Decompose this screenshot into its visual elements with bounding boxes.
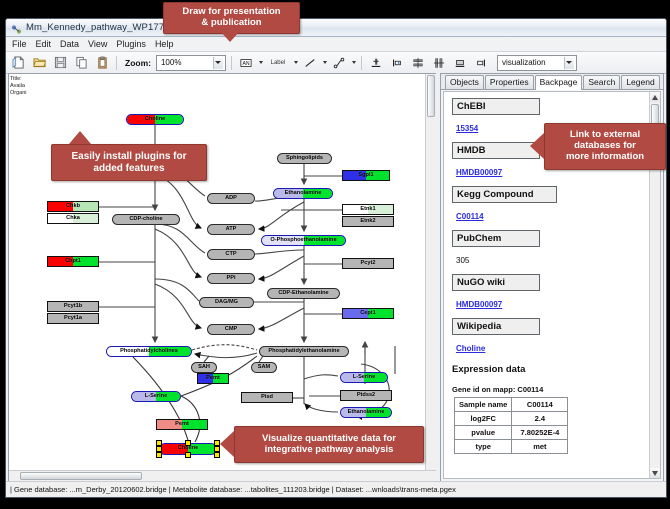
gene-node-chpt1[interactable]: Chpt1 <box>47 256 99 267</box>
menu-item-plugins[interactable]: Plugins <box>116 39 146 49</box>
pathway-meta-organism: Organi <box>10 90 27 97</box>
side-panel-tabs: Objects Properties Backpage Search Legen… <box>441 74 663 90</box>
chevron-down-icon <box>213 57 223 69</box>
open-folder-icon[interactable] <box>30 54 48 72</box>
node-label: SAM <box>258 365 270 371</box>
callout-plugins-arrow-icon <box>69 131 91 144</box>
callout-plugins: Easily install plugins for added feature… <box>51 144 207 181</box>
node-label: CMP <box>225 327 237 333</box>
gene-node-etnk1[interactable]: Etnk1 <box>342 204 394 215</box>
align-bottom-icon[interactable] <box>451 54 469 72</box>
node-label: Phosphatidylethanolamine <box>268 349 339 355</box>
callout-visualize-arrow-icon <box>220 431 234 457</box>
pathway-meta-title: Title: <box>10 76 27 83</box>
zoom-label: Zoom: <box>125 58 151 68</box>
callout-plugins-line2: added features <box>93 163 164 175</box>
menu-item-help[interactable]: Help <box>155 39 174 49</box>
link-nugo[interactable]: HMDB00097 <box>456 300 502 309</box>
value-pubchem: 305 <box>456 256 469 265</box>
visualization-value: visualization <box>502 58 546 67</box>
cell-label: type <box>455 440 512 454</box>
metabolite-node-cdp-choline[interactable]: CDP-choline <box>112 214 180 225</box>
scroll-up-icon[interactable] <box>650 92 660 102</box>
gene-node-etnk2[interactable]: Etnk2 <box>342 216 394 227</box>
metabolite-node-o-phosphoethanolamine[interactable]: O-Phosphoethanolamine <box>261 235 346 246</box>
canvas-hscroll-thumb[interactable] <box>20 472 142 480</box>
node-label: Chka <box>66 216 80 222</box>
cell-value: C00114 <box>512 398 568 412</box>
align-left-icon[interactable] <box>388 54 406 72</box>
metabolite-node-cdp-ethanolamine[interactable]: CDP-Ethanolamine <box>267 288 340 299</box>
gene-node-pemt[interactable]: Pemt <box>197 373 229 384</box>
callout-links-arrow-icon <box>530 133 544 159</box>
link-kegg[interactable]: C00114 <box>456 212 484 221</box>
table-row: type met <box>455 440 568 454</box>
line-icon[interactable] <box>301 54 319 72</box>
copy-icon[interactable] <box>72 54 90 72</box>
gene-node-sgpl1[interactable]: Sgpl1 <box>342 170 390 181</box>
node-label: Sgpl1 <box>358 173 373 179</box>
callout-links: Link to external databases for more info… <box>544 123 666 170</box>
table-row: log2FC 2.4 <box>455 412 568 426</box>
title-bar: Mm_Kennedy_pathway_WP1771_45176.gpml <box>6 19 666 37</box>
gene-node-ptdss2[interactable]: Ptdss2 <box>340 390 392 401</box>
node-label: DAG/MG <box>215 300 238 306</box>
table-row: Sample name C00114 <box>455 398 568 412</box>
cell-label: log2FC <box>455 412 512 426</box>
canvas-vertical-scrollbar[interactable] <box>425 74 436 481</box>
metabolite-node-phosphatidylcholines[interactable]: Phosphatidylcholines <box>106 346 192 357</box>
screenshot-root: Mm_Kennedy_pathway_WP1771_45176.gpml Fil… <box>0 0 670 509</box>
callout-visualize-line1: Visualize quantitative data for <box>262 434 396 445</box>
toolbar-separator-3 <box>361 56 362 70</box>
metabolite-node-ctp[interactable]: CTP <box>207 249 255 260</box>
align-cols-icon[interactable] <box>430 54 448 72</box>
gene-node-pcyt1a[interactable]: Pcyt1a <box>47 313 99 324</box>
node-label: CDP-choline <box>129 217 162 223</box>
anchor-chevron-icon[interactable] <box>352 61 356 64</box>
node-label: Pemt <box>175 422 189 428</box>
callout-visualize: Visualize quantitative data for integrat… <box>234 426 424 463</box>
app-icon <box>11 22 22 33</box>
label-dropdown[interactable]: Label <box>266 54 290 72</box>
node-label: PPi <box>226 276 235 282</box>
visualization-dropdown[interactable]: visualization <box>497 55 577 71</box>
node-label: CTP <box>225 252 236 258</box>
align-right-icon[interactable] <box>472 54 490 72</box>
node-label: Pisd <box>261 395 273 401</box>
resize-handle[interactable] <box>185 452 191 458</box>
cell-value: 2.4 <box>512 412 568 426</box>
metabolite-node-l-serine[interactable]: L-Serine <box>340 372 388 383</box>
callout-draw-line2: & publication <box>201 18 261 29</box>
cell-value: met <box>512 440 568 454</box>
metabolite-node-dag-mg[interactable]: DAG/MG <box>199 297 254 308</box>
new-file-icon[interactable] <box>9 54 27 72</box>
align-rows-icon[interactable] <box>409 54 427 72</box>
resize-handle[interactable] <box>156 452 162 458</box>
status-bar: | Gene database: ...m_Derby_20120602.bri… <box>6 481 666 497</box>
tab-legend[interactable]: Legend <box>621 75 659 89</box>
expression-table: Sample name C00114 log2FC 2.4 pvalue 7.8… <box>454 397 568 454</box>
gene-node-pcyt1b[interactable]: Pcyt1b <box>47 301 99 312</box>
node-label: Choline <box>178 446 199 452</box>
metabolite-node-choline[interactable]: Choline <box>126 114 184 125</box>
gene-node-chkb[interactable]: Chkb <box>47 201 99 212</box>
table-row: pvalue 7.80252E-4 <box>455 426 568 440</box>
gene-node-pemt[interactable]: Pemt <box>156 419 208 430</box>
line-chevron-icon[interactable] <box>323 61 327 64</box>
node-label: Chkb <box>66 204 80 210</box>
metabolite-node-adp[interactable]: ADP <box>207 193 255 204</box>
node-label: Ethanolamine <box>348 410 385 416</box>
metabolite-node-cmp[interactable]: CMP <box>207 324 255 335</box>
pathway-meta-available: Availa <box>10 83 27 90</box>
datanode-chevron-icon[interactable] <box>259 61 263 64</box>
visualization-chevron-icon <box>564 57 574 69</box>
tab-search[interactable]: Search <box>583 75 620 89</box>
node-label: Etnk1 <box>360 207 375 213</box>
pathvisio-window: Mm_Kennedy_pathway_WP1771_45176.gpml Fil… <box>5 18 667 498</box>
callout-draw: Draw for presentation & publication <box>163 2 300 34</box>
toolbar-separator-1 <box>116 56 117 70</box>
node-label: Cept1 <box>360 311 376 317</box>
gene-node-pcyt2[interactable]: Pcyt2 <box>342 258 394 269</box>
node-label: ATP <box>226 227 237 233</box>
anchor-icon[interactable] <box>330 54 348 72</box>
link-chebi[interactable]: 15354 <box>456 124 478 133</box>
scroll-down-icon[interactable] <box>650 468 660 478</box>
node-label: Pcyt2 <box>361 261 376 267</box>
node-label: ADP <box>225 196 237 202</box>
save-icon[interactable] <box>51 54 69 72</box>
menu-item-edit[interactable]: Edit <box>36 39 52 49</box>
section-header-hmdb: HMDB <box>452 142 540 159</box>
node-label: L-Serine <box>353 375 375 381</box>
gene-node-cept1[interactable]: Cept1 <box>342 308 394 319</box>
cell-value: 7.80252E-4 <box>512 426 568 440</box>
status-text: | Gene database: ...m_Derby_20120602.bri… <box>10 485 456 494</box>
section-header-pubchem: PubChem <box>452 230 540 247</box>
metabolite-node-sphingolipids[interactable]: Sphingolipids <box>277 153 332 164</box>
callout-plugins-line1: Easily install plugins for <box>71 151 186 163</box>
menu-item-data[interactable]: Data <box>60 39 79 49</box>
zoom-value: 100% <box>161 58 181 67</box>
link-hmdb[interactable]: HMDB00097 <box>456 168 502 177</box>
datanode-icon[interactable]: AN <box>237 54 255 72</box>
menu-bar: File Edit Data View Plugins Help <box>6 37 666 52</box>
section-header-chebi: ChEBI <box>452 98 540 115</box>
section-header-kegg: Kegg Compound <box>452 186 557 203</box>
node-label: O-Phosphoethanolamine <box>270 238 336 244</box>
tab-properties[interactable]: Properties <box>485 75 534 89</box>
metabolite-node-atp[interactable]: ATP <box>207 224 255 235</box>
resize-handle[interactable] <box>185 440 191 446</box>
pathway-canvas[interactable]: Title: Availa Organi <box>8 73 436 482</box>
metabolite-node-sah[interactable]: SAH <box>191 362 217 373</box>
node-label: Choline <box>145 117 166 123</box>
node-label: Etnk2 <box>360 219 375 225</box>
tab-objects[interactable]: Objects <box>445 75 484 89</box>
align-top-icon[interactable] <box>367 54 385 72</box>
metabolite-node-sam[interactable]: SAM <box>251 362 277 373</box>
metabolite-node-l-serine[interactable]: L-Serine <box>131 391 181 402</box>
metabolite-node-ethanolamine[interactable]: Ethanolamine <box>273 188 333 199</box>
svg-text:AN: AN <box>242 61 249 67</box>
node-label: Ptdss2 <box>357 393 375 399</box>
node-label: Pemt <box>206 376 220 382</box>
toolbar-separator-2 <box>231 56 232 70</box>
node-label: L-Serine <box>145 394 167 400</box>
node-label: Phosphatidylcholines <box>120 349 178 355</box>
node-label: CDP-Ethanolamine <box>278 291 328 297</box>
tab-backpage[interactable]: Backpage <box>535 75 583 90</box>
cell-label: Sample name <box>455 398 512 412</box>
menu-item-file[interactable]: File <box>12 39 27 49</box>
canvas-horizontal-scrollbar[interactable] <box>9 470 436 481</box>
node-label: Pcyt1a <box>64 316 82 322</box>
gene-node-pisd[interactable]: Pisd <box>241 392 293 403</box>
node-label: SAH <box>198 365 210 371</box>
cell-label: pvalue <box>455 426 512 440</box>
label-dropdown-text: Label <box>271 60 286 66</box>
node-label: Ethanolamine <box>285 191 322 197</box>
gene-node-chka[interactable]: Chka <box>47 213 99 224</box>
node-label: Sphingolipids <box>286 156 323 162</box>
expression-data-heading: Expression data <box>452 364 650 375</box>
label-chevron-icon[interactable] <box>294 61 298 64</box>
metabolite-node-phosphatidylethanolamine[interactable]: Phosphatidylethanolamine <box>259 346 349 357</box>
paste-icon[interactable] <box>93 54 111 72</box>
menu-item-view[interactable]: View <box>88 39 107 49</box>
section-header-nugo: NuGO wiki <box>452 274 540 291</box>
link-wikipedia[interactable]: Choline <box>456 344 485 353</box>
pathway-meta: Title: Availa Organi <box>10 76 27 97</box>
node-label: Pcyt1b <box>64 304 82 310</box>
zoom-dropdown[interactable]: 100% <box>156 55 226 71</box>
callout-visualize-line2: integrative pathway analysis <box>265 445 394 456</box>
callout-draw-arrow-icon <box>220 31 240 42</box>
section-header-wikipedia: Wikipedia <box>452 318 540 335</box>
node-label: Chpt1 <box>65 259 81 265</box>
gene-id-line: Gene id on mapp: C00114 <box>452 385 650 394</box>
metabolite-node-ppi[interactable]: PPi <box>207 273 255 284</box>
canvas-vscroll-thumb[interactable] <box>427 75 435 117</box>
callout-links-line3: more information <box>566 152 644 163</box>
metabolite-node-ethanolamine[interactable]: Ethanolamine <box>340 407 392 418</box>
